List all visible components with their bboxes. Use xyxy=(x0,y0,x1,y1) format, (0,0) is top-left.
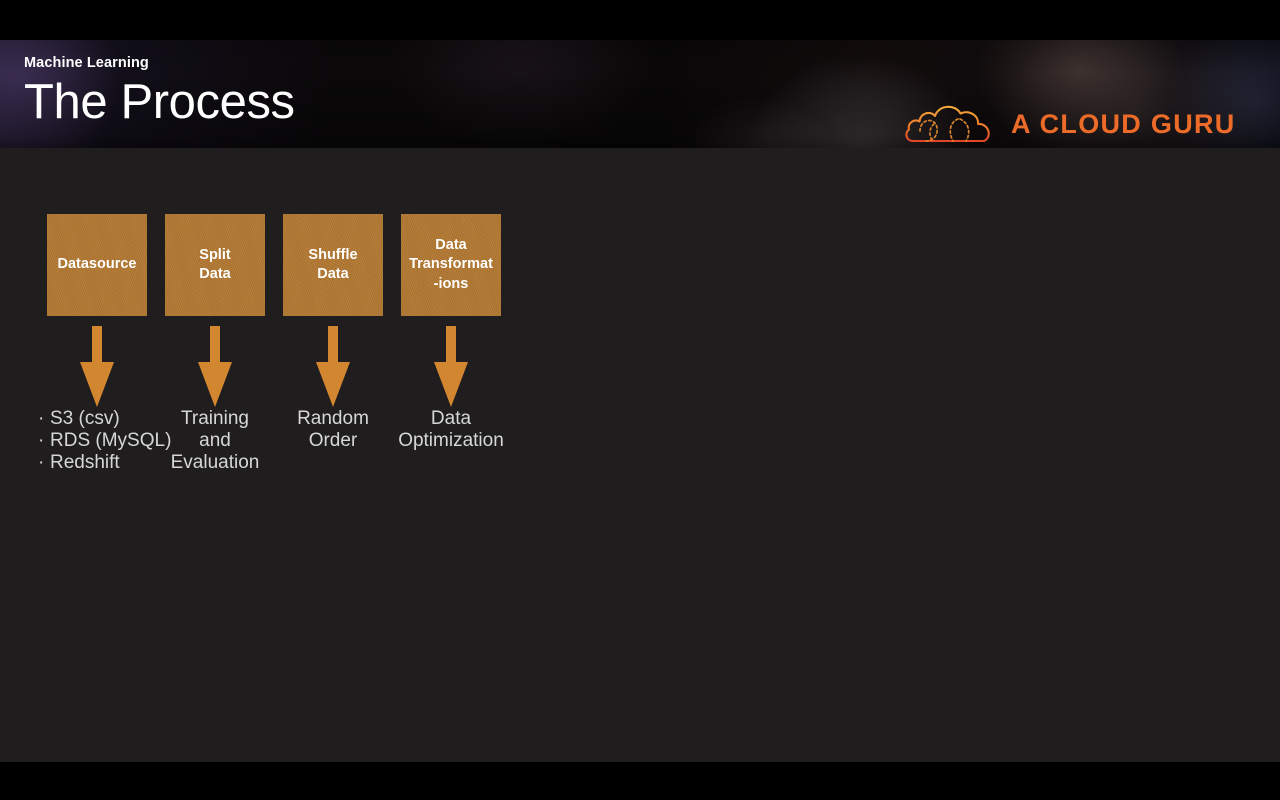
step-box-data-transformations: Data Transformat -ions xyxy=(401,214,501,316)
down-arrow-icon xyxy=(47,316,147,408)
process-step-4: Data Transformat -ions Data Optimization xyxy=(401,214,501,452)
caption-line: Training xyxy=(165,408,265,430)
caption-line: Random xyxy=(283,408,383,430)
caption-line: Data xyxy=(376,408,526,430)
list-item-label: Redshift xyxy=(50,452,120,473)
step-box-line: Shuffle xyxy=(308,246,357,265)
bullet-glyph: · xyxy=(38,430,50,452)
step-box-shuffle-data: Shuffle Data xyxy=(283,214,383,316)
bullet-glyph: · xyxy=(38,452,50,474)
list-item-label: RDS (MySQL) xyxy=(50,430,171,451)
step-box-line: Transformat xyxy=(409,255,493,274)
step-box-line: Data xyxy=(409,236,493,255)
course-eyebrow-label: Machine Learning xyxy=(24,55,149,71)
slide-letterbox-frame: Machine Learning The Process xyxy=(0,0,1280,800)
caption-line: Evaluation xyxy=(165,452,265,474)
process-step-1: Datasource ·S3 (csv) ·RDS (MySQL) xyxy=(47,214,147,475)
step-box-line: -ions xyxy=(409,275,493,294)
step-caption-shuffle-data: Random Order xyxy=(283,408,383,452)
down-arrow-icon xyxy=(165,316,265,408)
brand-logo-text: A CLOUD GURU xyxy=(1011,109,1236,140)
down-arrow-icon xyxy=(401,316,501,408)
slide-canvas: Machine Learning The Process xyxy=(0,40,1280,762)
brand-logo: A CLOUD GURU xyxy=(903,100,1248,148)
step-caption-split-data: Training and Evaluation xyxy=(165,408,265,475)
step-box-split-data: Split Data xyxy=(165,214,265,316)
step-box-line: Datasource xyxy=(58,255,137,274)
page-title: The Process xyxy=(24,74,295,132)
bullet-glyph: · xyxy=(38,408,50,430)
step-box-line: Data xyxy=(308,265,357,284)
step-box-datasource: Datasource xyxy=(47,214,147,316)
slide-header: Machine Learning The Process xyxy=(0,40,1280,148)
step-box-line: Split xyxy=(199,246,230,265)
process-step-2: Split Data Training and Evaluation xyxy=(165,214,265,475)
caption-line: and xyxy=(165,430,265,452)
process-step-3: Shuffle Data Random Order xyxy=(283,214,383,452)
caption-line: Order xyxy=(283,430,383,452)
caption-line: Optimization xyxy=(376,430,526,452)
cloud-outline-icon xyxy=(903,100,997,148)
step-caption-data-transformations: Data Optimization xyxy=(376,408,526,452)
step-box-line: Data xyxy=(199,265,230,284)
down-arrow-icon xyxy=(283,316,383,408)
list-item-label: S3 (csv) xyxy=(50,408,120,429)
